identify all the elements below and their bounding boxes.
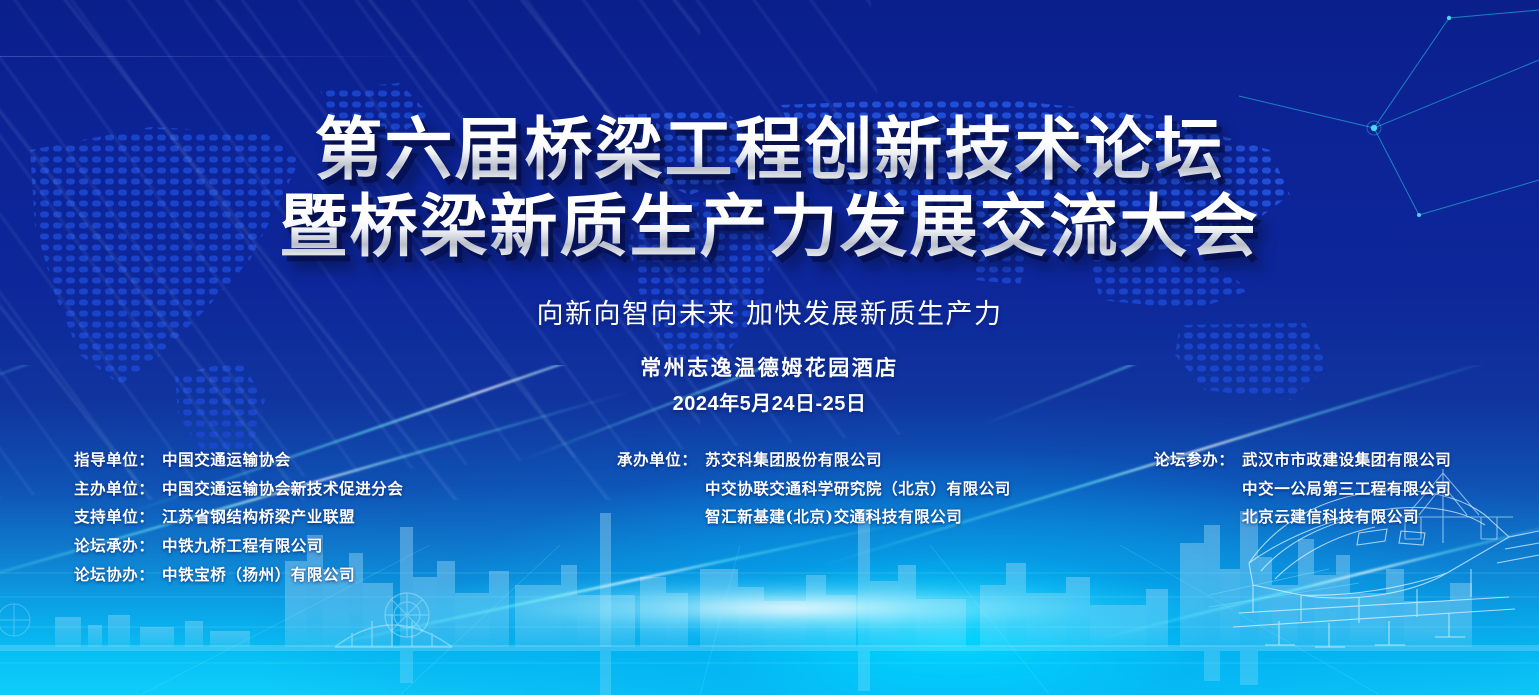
- organizer-label: 论坛协办：: [74, 561, 162, 590]
- venue-text: 常州志逸温德姆花园酒店: [0, 352, 1539, 382]
- organizer-label: 支持单位：: [74, 503, 162, 532]
- organizer-value: 江苏省钢结构桥梁产业联盟: [162, 503, 355, 532]
- organizers-column-left: 指导单位： 中国交通运输协会 主办单位： 中国交通运输协会新技术促进分会 支持单…: [74, 446, 404, 589]
- organizer-row: 论坛协办： 中铁宝桥（扬州）有限公司: [74, 561, 404, 590]
- organizer-row: 指导单位： 北京云建信科技有限公司: [1154, 503, 1451, 532]
- date-text: 2024年5月24日-25日: [0, 387, 1539, 416]
- organizer-value: 中铁九桥工程有限公司: [162, 532, 323, 561]
- organizer-value: 智汇新基建(北京)交通科技有限公司: [705, 503, 962, 532]
- organizer-row: 指导单位： 智汇新基建(北京)交通科技有限公司: [617, 503, 1011, 532]
- main-title-line-2: 暨桥梁新质生产力发展交流大会: [0, 189, 1539, 266]
- organizers-block: 指导单位： 中国交通运输协会 主办单位： 中国交通运输协会新技术促进分会 支持单…: [0, 446, 1539, 566]
- event-info-block: 常州志逸温德姆花园酒店 2024年5月24日-25日: [0, 352, 1539, 416]
- organizer-label: 主办单位：: [74, 475, 162, 504]
- organizer-row: 论坛参办： 武汉市市政建设集团有限公司: [1154, 446, 1451, 475]
- organizer-value: 中国交通运输协会: [162, 446, 291, 475]
- organizer-label: 论坛承办：: [74, 532, 162, 561]
- organizers-column-center: 承办单位： 苏交科集团股份有限公司 指导单位： 中交协联交通科学研究院（北京）有…: [617, 446, 1011, 532]
- organizer-label: 论坛参办：: [1154, 446, 1242, 475]
- organizers-column-right: 论坛参办： 武汉市市政建设集团有限公司 指导单位： 中交一公局第三工程有限公司 …: [1154, 446, 1451, 532]
- slogan-text: 向新向智向未来 加快发展新质生产力: [0, 292, 1539, 331]
- title-block: 第六届桥梁工程创新技术论坛 暨桥梁新质生产力发展交流大会 向新向智向未来 加快发…: [0, 112, 1539, 331]
- organizer-label: 指导单位：: [74, 446, 162, 475]
- organizer-value: 武汉市市政建设集团有限公司: [1242, 446, 1451, 475]
- organizer-value: 中铁宝桥（扬州）有限公司: [162, 561, 355, 590]
- organizer-label: 承办单位：: [617, 446, 705, 475]
- organizer-value: 中交协联交通科学研究院（北京）有限公司: [705, 475, 1011, 504]
- organizer-value: 中交一公局第三工程有限公司: [1242, 475, 1451, 504]
- content-layer: 第六届桥梁工程创新技术论坛 暨桥梁新质生产力发展交流大会 向新向智向未来 加快发…: [0, 0, 1539, 695]
- organizer-row: 主办单位： 中国交通运输协会新技术促进分会: [74, 475, 404, 504]
- organizer-value: 北京云建信科技有限公司: [1242, 503, 1419, 532]
- organizer-value: 中国交通运输协会新技术促进分会: [162, 475, 404, 504]
- organizer-row: 支持单位： 江苏省钢结构桥梁产业联盟: [74, 503, 404, 532]
- organizer-row: 指导单位： 中国交通运输协会: [74, 446, 404, 475]
- organizer-row: 指导单位： 中交协联交通科学研究院（北京）有限公司: [617, 475, 1011, 504]
- organizer-row: 论坛承办： 中铁九桥工程有限公司: [74, 532, 404, 561]
- organizer-value: 苏交科集团股份有限公司: [705, 446, 882, 475]
- organizer-row: 承办单位： 苏交科集团股份有限公司: [617, 446, 1011, 475]
- main-title-line-1: 第六届桥梁工程创新技术论坛: [0, 112, 1539, 189]
- conference-banner: 第六届桥梁工程创新技术论坛 暨桥梁新质生产力发展交流大会 向新向智向未来 加快发…: [0, 0, 1539, 695]
- organizer-row: 指导单位： 中交一公局第三工程有限公司: [1154, 475, 1451, 504]
